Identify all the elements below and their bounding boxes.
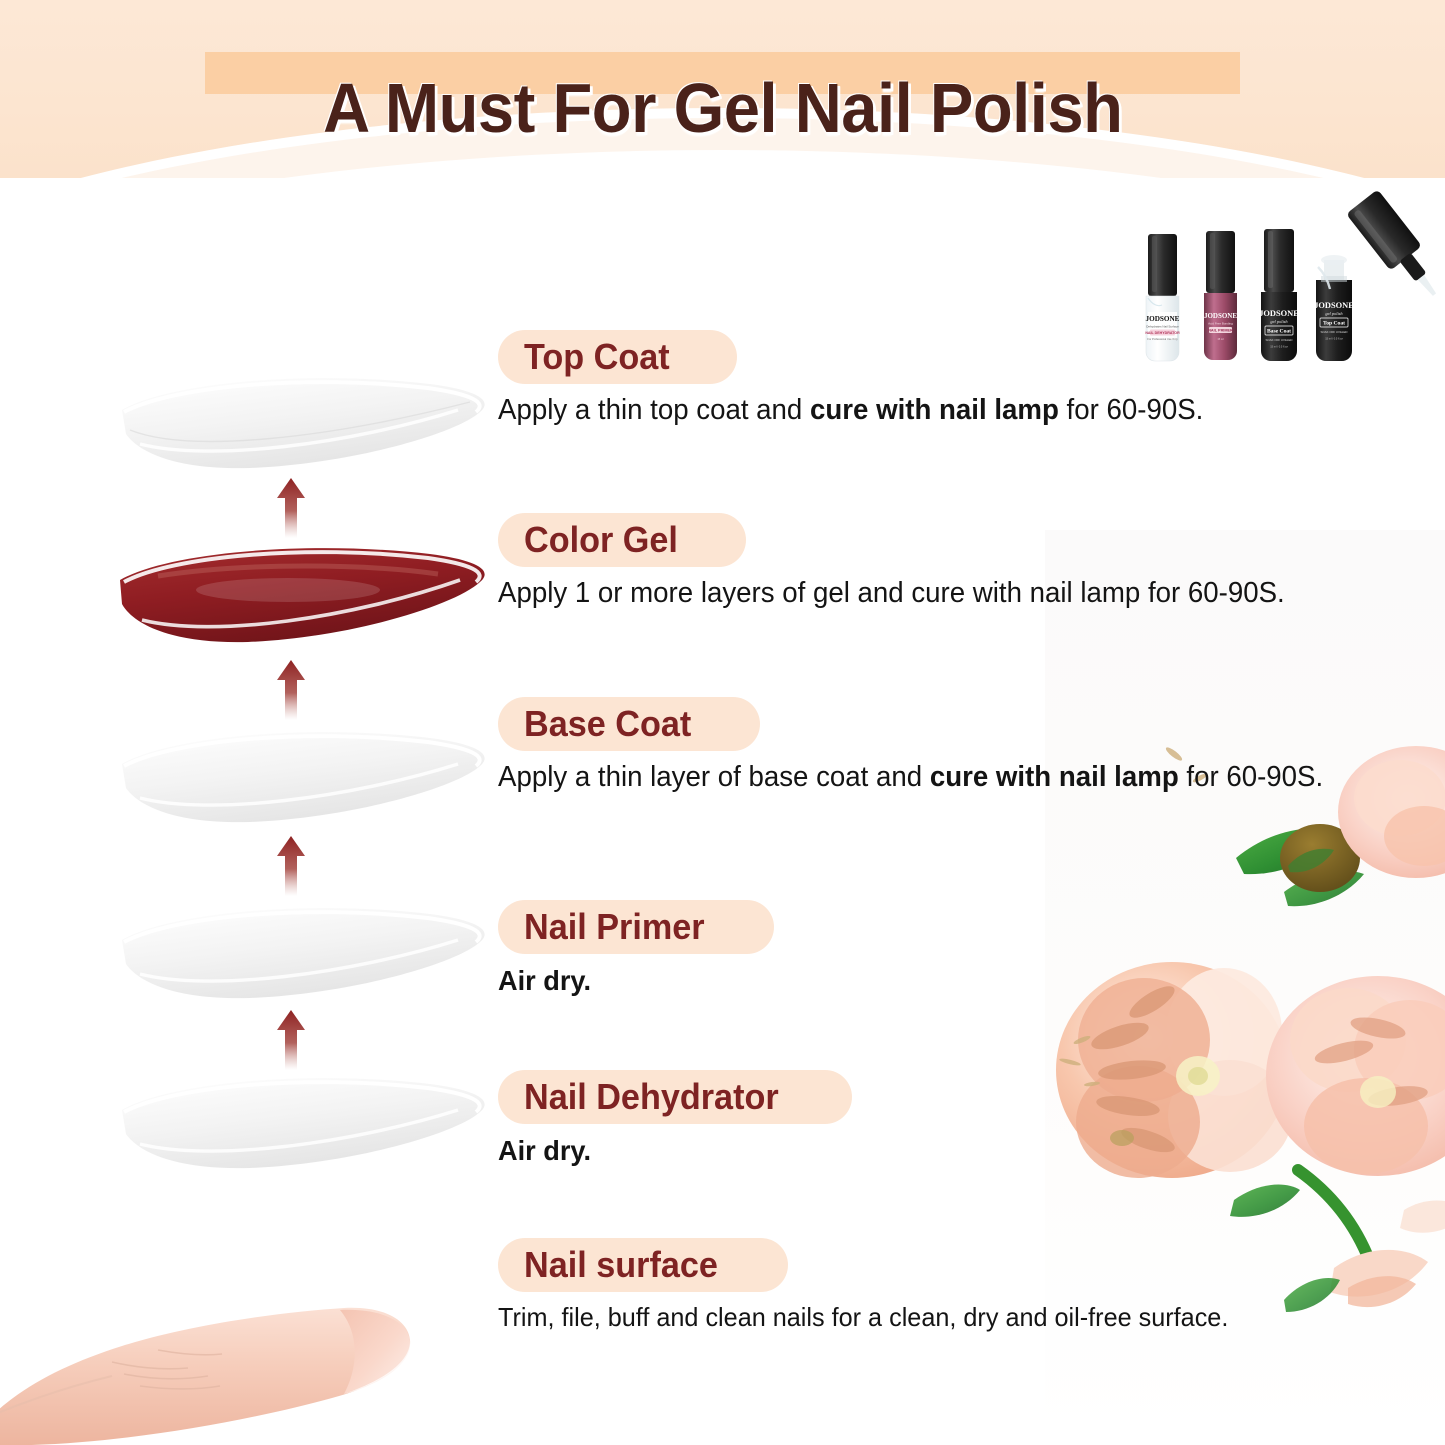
step-label-color-gel: Color Gel <box>524 513 678 567</box>
step-desc-color-gel: Apply 1 or more layers of gel and cure w… <box>498 575 1285 613</box>
step-desc-top-coat: Apply a thin top coat and cure with nail… <box>498 392 1203 430</box>
step-nail-surface: Nail surface Trim, file, buff and clean … <box>498 1238 1251 1335</box>
step-top-coat: Top Coat Apply a thin top coat and cure … <box>498 330 1225 430</box>
step-color-gel: Color Gel Apply 1 or more layers of gel … <box>498 513 1309 613</box>
step-label-top-coat: Top Coat <box>524 330 670 384</box>
step-badge-base-coat[interactable]: Base Coat <box>498 697 760 751</box>
step-nail-dehydrator: Nail Dehydrator Air dry. <box>498 1070 852 1169</box>
infographic-page: A Must For Gel Nail Polish <box>0 0 1445 1445</box>
step-badge-nail-dehydrator[interactable]: Nail Dehydrator <box>498 1070 852 1124</box>
steps-list: Top Coat Apply a thin top coat and cure … <box>0 0 1445 1445</box>
step-badge-top-coat[interactable]: Top Coat <box>498 330 737 384</box>
step-desc-nail-dehydrator: Air dry. <box>498 1132 841 1169</box>
step-badge-nail-surface[interactable]: Nail surface <box>498 1238 788 1292</box>
step-label-nail-dehydrator: Nail Dehydrator <box>524 1070 779 1124</box>
step-base-coat: Base Coat Apply a thin layer of base coa… <box>498 697 1349 797</box>
step-desc-nail-primer: Air dry. <box>498 962 766 999</box>
step-badge-nail-primer[interactable]: Nail Primer <box>498 900 774 954</box>
step-label-nail-primer: Nail Primer <box>524 900 705 954</box>
step-badge-color-gel[interactable]: Color Gel <box>498 513 746 567</box>
step-nail-primer: Nail Primer Air dry. <box>498 900 774 999</box>
step-desc-nail-surface: Trim, file, buff and clean nails for a c… <box>498 1300 1228 1335</box>
step-label-nail-surface: Nail surface <box>524 1238 718 1292</box>
step-label-base-coat: Base Coat <box>524 697 691 751</box>
step-desc-base-coat: Apply a thin layer of base coat and cure… <box>498 759 1323 797</box>
